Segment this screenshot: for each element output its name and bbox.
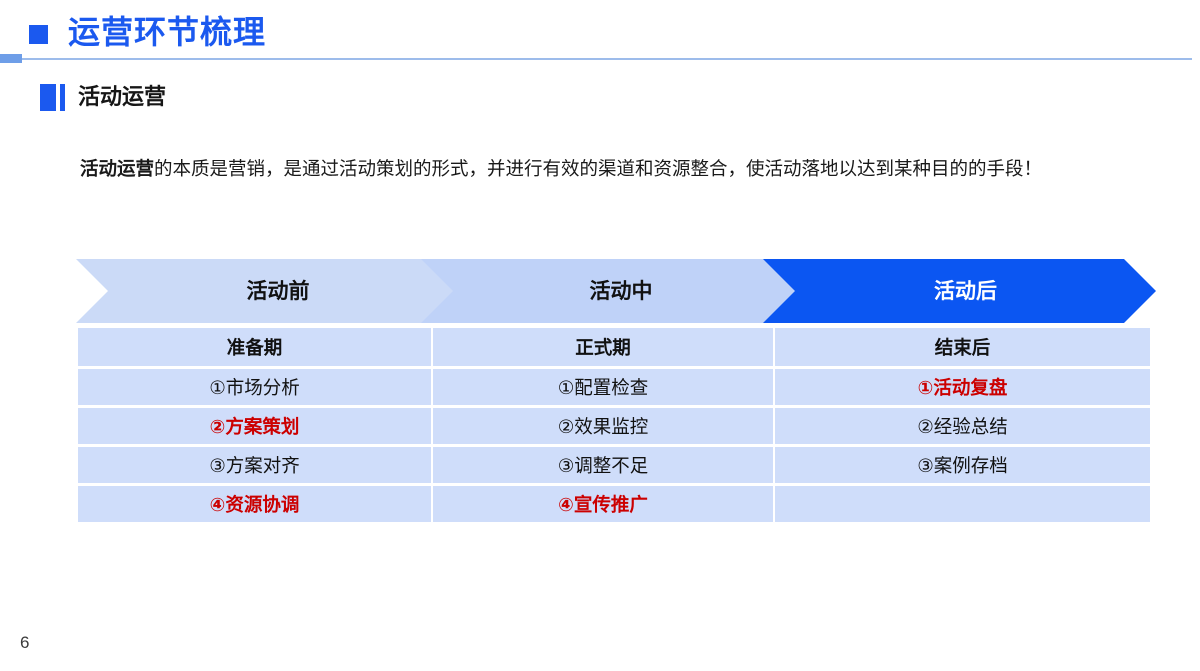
table-header-cell-0: 准备期	[78, 328, 431, 366]
chevron-phase-2[interactable]: 活动中	[421, 259, 805, 323]
phase-chevron-band: 活动前 活动中 活动后	[76, 259, 1156, 323]
double-bar-marker-icon	[40, 84, 56, 111]
double-bar-marker-icon-thin	[60, 84, 65, 111]
paragraph-rest: 的本质是营销，是通过活动策划的形式，并进行有效的渠道和资源整合，使活动落地以达到…	[154, 158, 1042, 179]
paragraph-lead: 活动运营	[80, 158, 154, 179]
table-header-row: 准备期 正式期 结束后	[78, 328, 1150, 366]
table-cell-r0c0: ①市场分析	[78, 369, 431, 405]
table-row: ③方案对齐 ③调整不足 ③案例存档	[78, 447, 1150, 483]
table-cell-r3c1: ④宣传推广	[433, 486, 773, 522]
square-bullet-icon	[29, 25, 48, 44]
table-cell-r1c1: ②效果监控	[433, 408, 773, 444]
table-cell-r0c1: ①配置检查	[433, 369, 773, 405]
table-cell-r0c2: ①活动复盘	[775, 369, 1150, 405]
slide-title-row: 运营环节梳理	[0, 8, 1200, 56]
table-row: ④资源协调 ④宣传推广	[78, 486, 1150, 522]
phase-table: 准备期 正式期 结束后 ①市场分析 ①配置检查 ①活动复盘 ②方案策划 ②效果监…	[76, 325, 1152, 525]
table-row: ①市场分析 ①配置检查 ①活动复盘	[78, 369, 1150, 405]
body-paragraph: 活动运营的本质是营销，是通过活动策划的形式，并进行有效的渠道和资源整合，使活动落…	[80, 150, 1170, 188]
section-heading-label: 活动运营	[78, 86, 166, 108]
table-cell-r3c2	[775, 486, 1150, 522]
table-cell-r2c0: ③方案对齐	[78, 447, 431, 483]
table-cell-r2c1: ③调整不足	[433, 447, 773, 483]
table-header-cell-1: 正式期	[433, 328, 773, 366]
chevron-phase-2-label: 活动中	[590, 281, 653, 302]
table-cell-r3c0: ④资源协调	[78, 486, 431, 522]
chevron-phase-3[interactable]: 活动后	[763, 259, 1156, 323]
title-divider	[22, 58, 1192, 60]
table-row: ②方案策划 ②效果监控 ②经验总结	[78, 408, 1150, 444]
section-heading: 活动运营	[40, 82, 166, 112]
title-rule-cap	[0, 54, 22, 63]
page-title: 运营环节梳理	[68, 16, 266, 48]
table-header-cell-2: 结束后	[775, 328, 1150, 366]
table-cell-r1c0: ②方案策划	[78, 408, 431, 444]
table-cell-r2c2: ③案例存档	[775, 447, 1150, 483]
chevron-phase-1-label: 活动前	[247, 281, 310, 302]
table-cell-r1c2: ②经验总结	[775, 408, 1150, 444]
page-number: 6	[20, 634, 29, 651]
chevron-phase-3-label: 活动后	[934, 281, 997, 302]
chevron-phase-1[interactable]: 活动前	[76, 259, 464, 323]
